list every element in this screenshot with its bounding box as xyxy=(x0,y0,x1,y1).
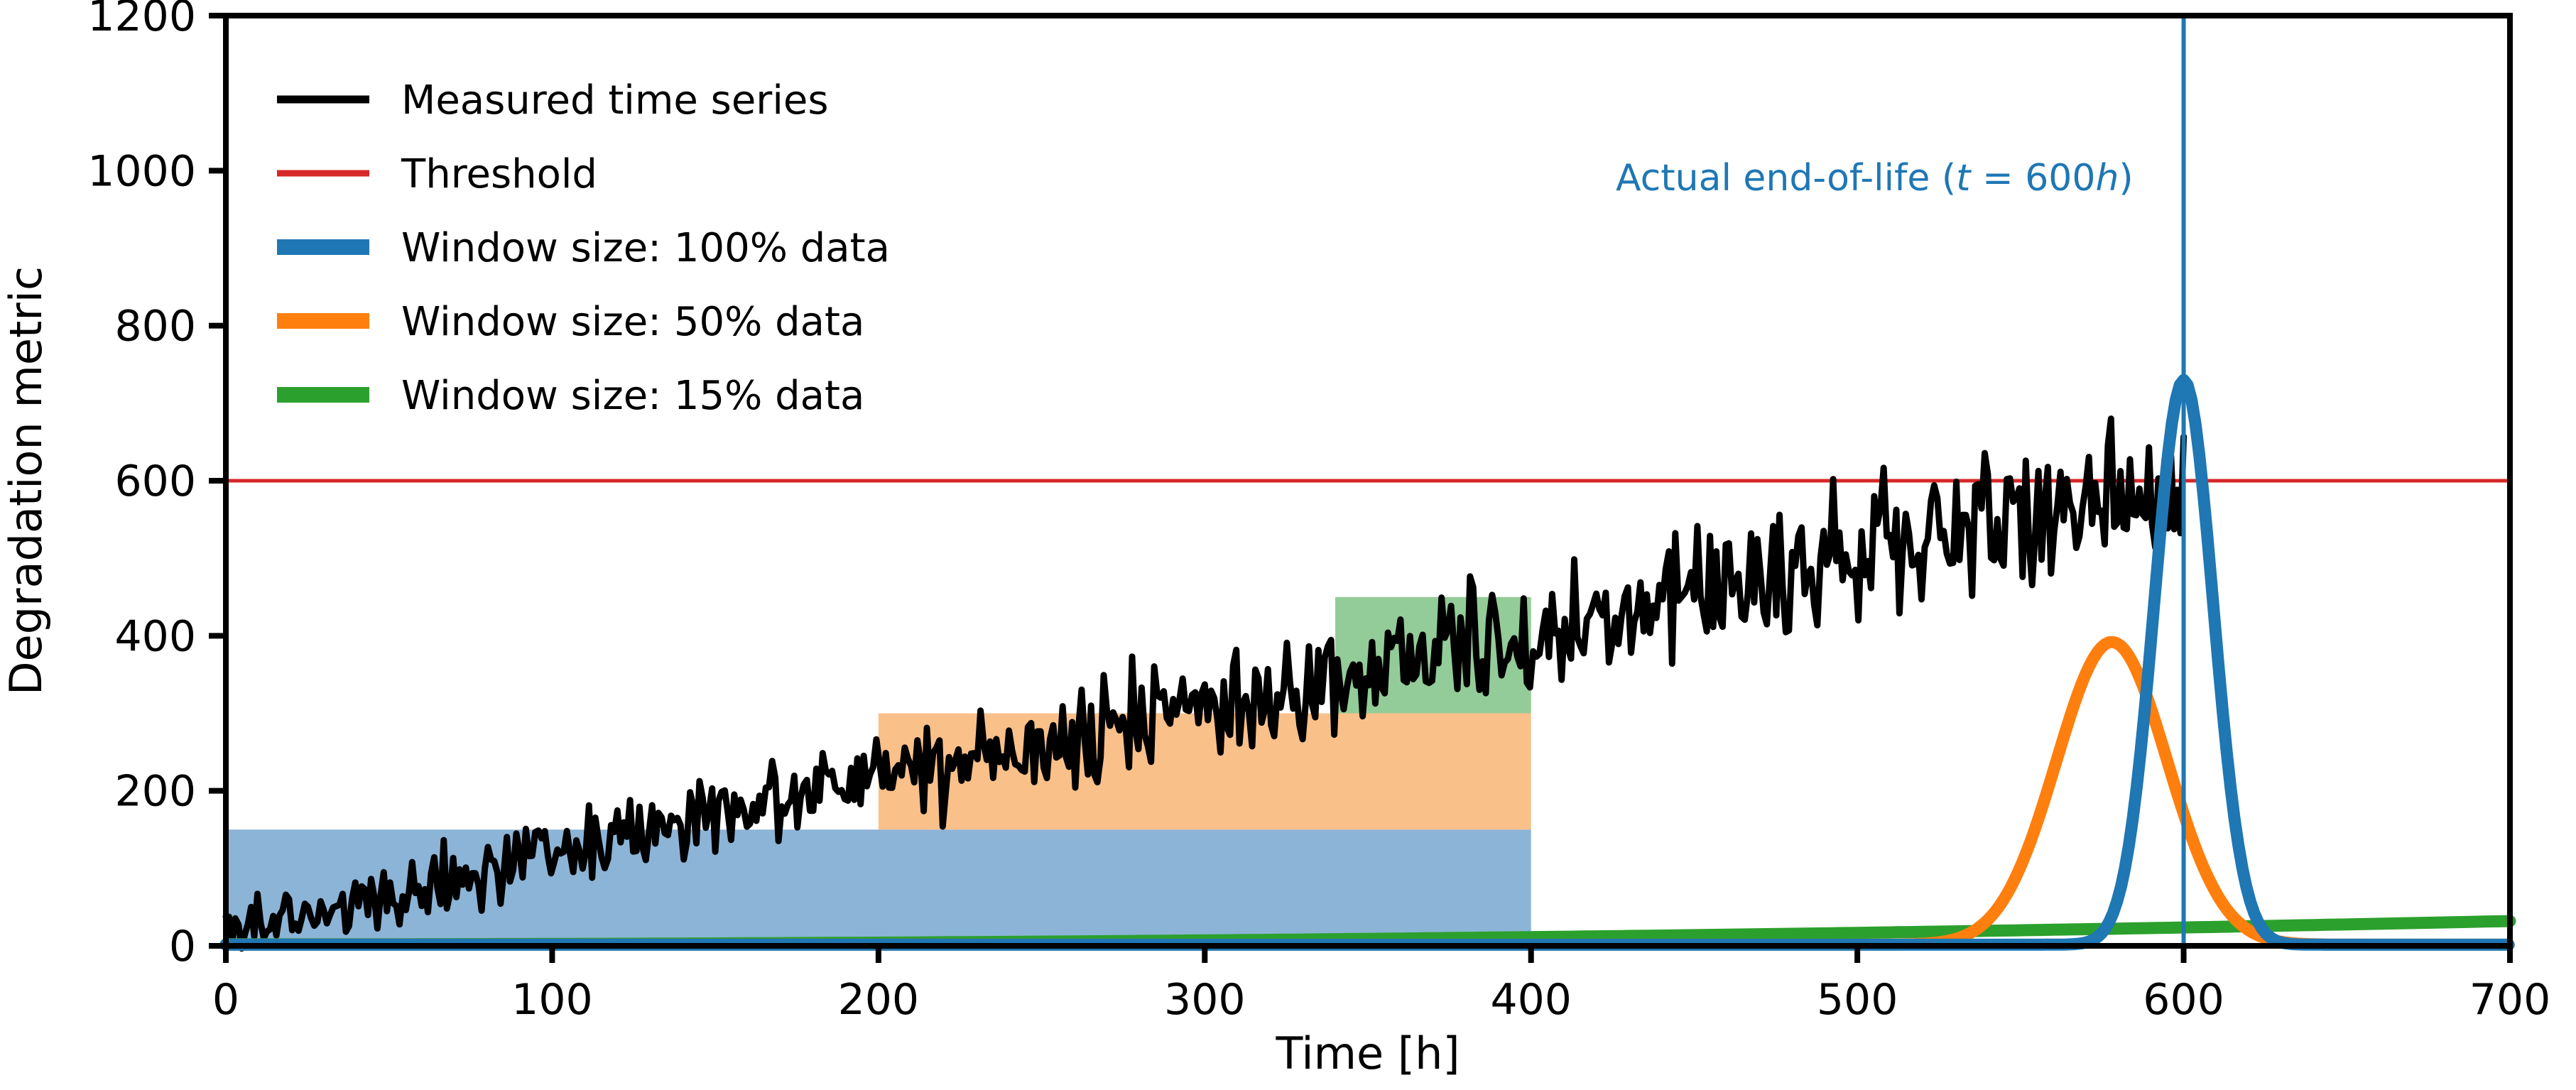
y-tick-label: 200 xyxy=(114,767,196,817)
y-tick-label: 400 xyxy=(114,611,196,661)
x-axis-ticks: 0100200300400500600700 xyxy=(212,946,2550,1025)
y-tick-label: 800 xyxy=(114,302,196,351)
legend-label-4: Window size: 50% data xyxy=(401,299,864,345)
x-tick-label: 500 xyxy=(1817,975,1898,1025)
legend-label-3: Window size: 100% data xyxy=(401,225,890,271)
x-tick-label: 100 xyxy=(511,975,593,1025)
legend-swatch-3 xyxy=(277,239,369,255)
eol-suffix-text: ) xyxy=(2119,157,2133,200)
legend-swatch-1 xyxy=(277,96,369,104)
eol-prefix-text: Actual end-of-life ( xyxy=(1616,157,1956,200)
x-tick-label: 700 xyxy=(2469,975,2551,1025)
end-of-life-annotation: Actual end-of-life (t = 600h) xyxy=(1616,157,2134,200)
y-axis-ticks: 020040060080010001200 xyxy=(87,0,226,971)
y-tick-label: 1000 xyxy=(87,146,196,196)
legend-label-1: Measured time series xyxy=(401,77,829,124)
x-tick-label: 600 xyxy=(2143,975,2224,1025)
y-axis-label: Degradation metric xyxy=(0,266,52,695)
legend-swatch-5 xyxy=(277,387,369,403)
eol-h-unit: h xyxy=(2095,157,2119,200)
legend-label-2: Threshold xyxy=(401,151,597,197)
y-tick-label: 600 xyxy=(114,457,196,506)
legend-swatch-4 xyxy=(277,313,369,329)
y-tick-label: 0 xyxy=(169,922,196,971)
x-tick-label: 200 xyxy=(838,975,920,1025)
legend-swatch-2 xyxy=(277,170,369,177)
eol-t-symbol: t xyxy=(1956,157,1972,200)
x-tick-label: 0 xyxy=(212,975,239,1025)
chart-figure: 0100200300400500600700 02004006008001000… xyxy=(0,0,2576,1090)
x-axis-label: Time [h] xyxy=(1275,1028,1460,1079)
degradation-metric-chart: 0100200300400500600700 02004006008001000… xyxy=(0,0,2576,1090)
legend-label-5: Window size: 15% data xyxy=(401,373,864,419)
x-tick-label: 300 xyxy=(1164,975,1246,1025)
eol-equals-value: = 600 xyxy=(1971,157,2096,200)
x-tick-label: 400 xyxy=(1490,975,1572,1025)
y-tick-label: 1200 xyxy=(87,0,196,41)
